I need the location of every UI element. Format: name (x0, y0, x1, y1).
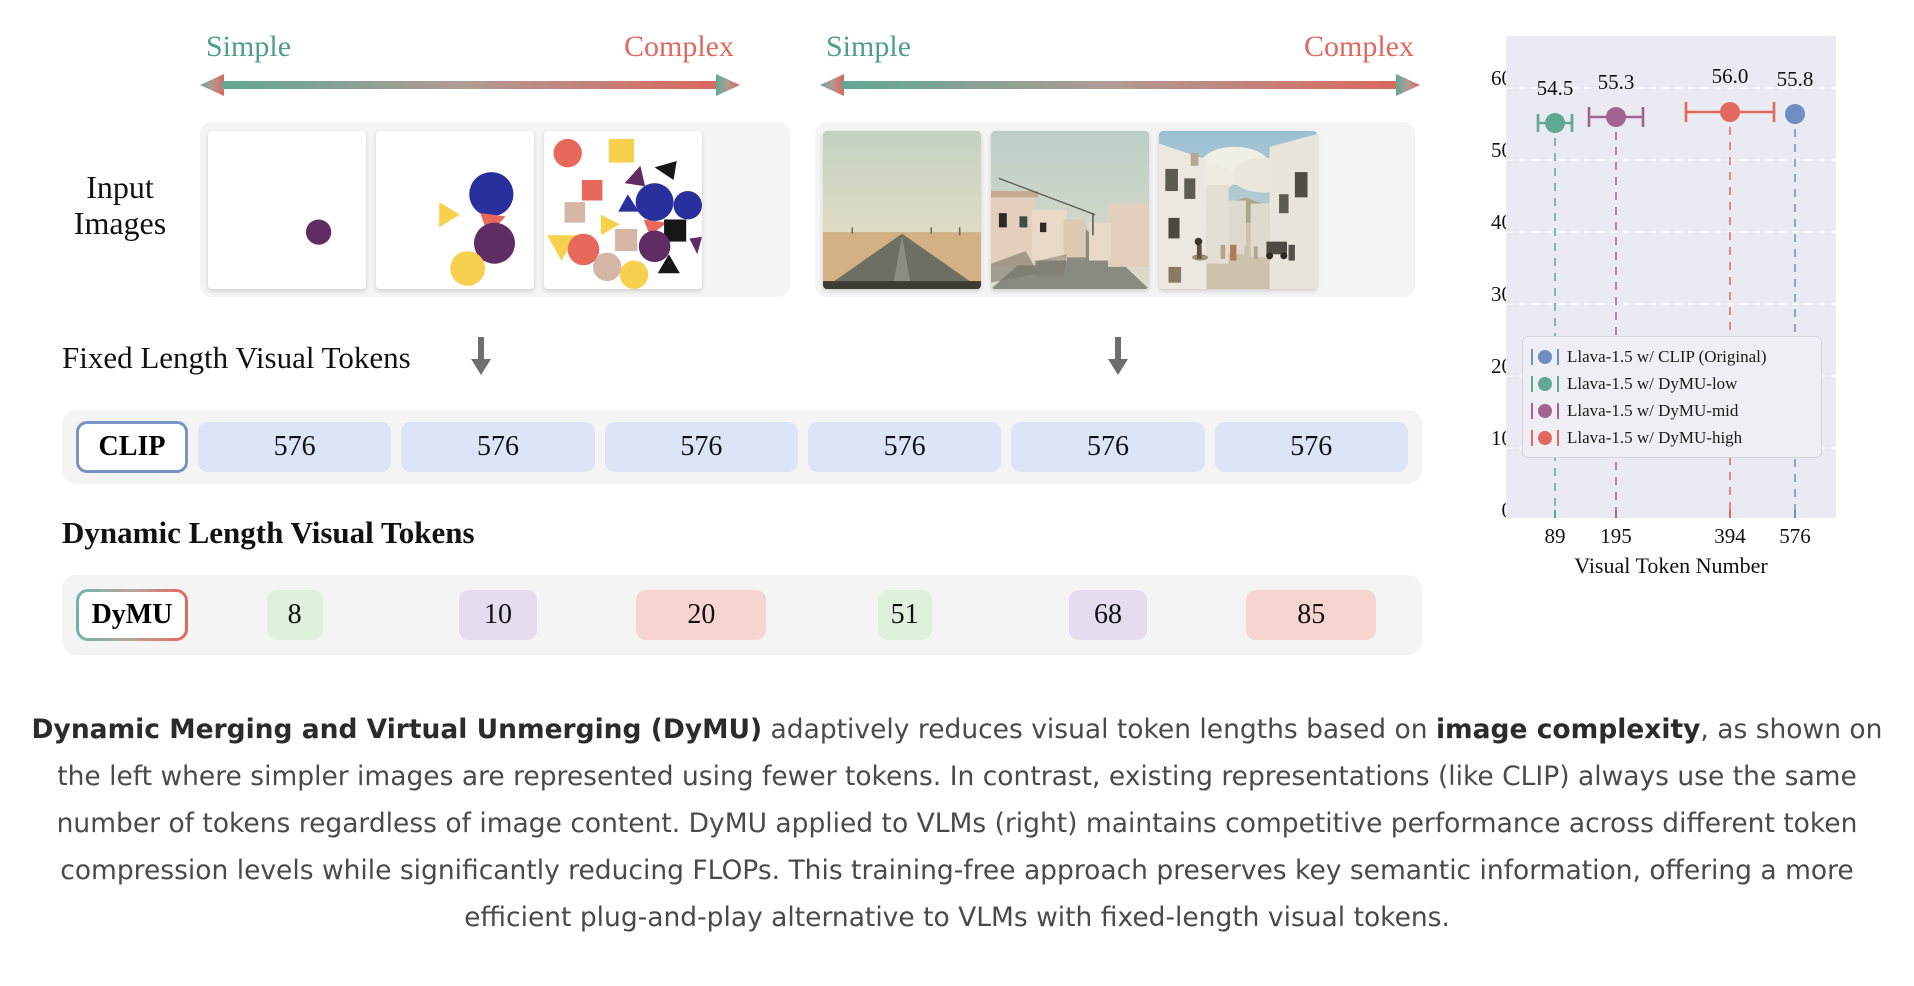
data-label-dymu-high: 56.0 (1700, 64, 1760, 89)
dymu-model-badge[interactable]: DyMU (76, 589, 188, 641)
arrow-down-icon (1105, 337, 1131, 377)
complexity-axis-2: Simple Complex (820, 30, 1420, 110)
dymu-token-2: 10 (459, 590, 537, 640)
dynamic-length-title: Dynamic Length Visual Tokens (62, 515, 475, 551)
axis-2-arrow (820, 72, 1420, 98)
point-dymu-low (1545, 113, 1565, 133)
figure-root: Simple Complex (0, 0, 1914, 986)
y-tick-30: 30 (1452, 282, 1512, 307)
point-dymu-high (1720, 102, 1740, 122)
legend-label-clip: Llava-1.5 w/ CLIP (Original) (1567, 347, 1767, 367)
legend-label-dymu-high: Llava-1.5 w/ DyMU-high (1567, 428, 1742, 448)
down-arrow-icon-2 (1105, 337, 1131, 377)
complexity-axis-1: Simple Complex (200, 30, 740, 110)
legend-marker-dymu-low-icon (1531, 375, 1559, 393)
thumb-shapes-complex[interactable] (544, 131, 702, 289)
caption-bold-complexity: image complexity (1436, 714, 1700, 745)
legend-item-clip[interactable]: Llava-1.5 w/ CLIP (Original) (1531, 343, 1813, 370)
down-arrow-icon-1 (468, 337, 494, 377)
data-label-dymu-low: 54.5 (1525, 76, 1585, 101)
point-dymu-mid (1606, 107, 1626, 127)
left-diagram-panel: Simple Complex (0, 0, 1460, 700)
shapes-simple-image (208, 131, 366, 289)
dymu-token-slot-1: 8 (198, 590, 391, 640)
double-arrow-icon (200, 72, 740, 98)
caption-rest: , as shown on the left where simpler ima… (57, 714, 1883, 933)
dymu-token-slot-2: 10 (401, 590, 594, 640)
caption-mid-1: adaptively reduces visual token lengths … (762, 714, 1436, 745)
thumb-shapes-medium[interactable] (376, 131, 534, 289)
figure-caption: Dynamic Merging and Virtual Unmerging (D… (28, 706, 1886, 941)
clip-token-slot-3: 576 (605, 422, 798, 472)
dymu-token-3: 20 (636, 590, 766, 640)
data-label-dymu-mid: 55.3 (1586, 70, 1646, 95)
legend-label-dymu-mid: Llava-1.5 w/ DyMU-mid (1567, 401, 1738, 421)
clip-token-4: 576 (808, 422, 1001, 472)
dymu-token-1: 8 (267, 590, 323, 640)
shapes-complex-image (544, 131, 702, 289)
x-tick-576: 576 (1760, 524, 1830, 549)
clip-token-slot-1: 576 (198, 422, 391, 472)
x-tick-89: 89 (1520, 524, 1590, 549)
dymu-token-5: 68 (1069, 590, 1147, 640)
legend-marker-dymu-mid-icon (1531, 402, 1559, 420)
thumb-photo-village-street[interactable] (991, 131, 1149, 289)
dymu-token-slot-4: 51 (808, 590, 1001, 640)
shapes-medium-image (376, 131, 534, 289)
y-tick-60: 60 (1452, 66, 1512, 91)
clip-token-3: 576 (605, 422, 798, 472)
desert-road-photo (823, 131, 981, 289)
clip-token-row: CLIP 576 576 576 576 576 576 (62, 410, 1422, 484)
legend-item-dymu-low[interactable]: Llava-1.5 w/ DyMU-low (1531, 370, 1813, 397)
input-images-label-line1: Input (50, 170, 190, 206)
clip-token-slot-4: 576 (808, 422, 1001, 472)
thumb-shapes-simple[interactable] (208, 131, 366, 289)
clip-token-slot-6: 576 (1215, 422, 1408, 472)
caption-bold-dymu: Dynamic Merging and Virtual Unmerging (D… (32, 714, 763, 745)
y-tick-40: 40 (1452, 210, 1512, 235)
x-tick-394: 394 (1695, 524, 1765, 549)
clip-token-1: 576 (198, 422, 391, 472)
clip-token-2: 576 (401, 422, 594, 472)
axis-2-simple-label: Simple (826, 30, 911, 64)
chart-x-axis-label: Visual Token Number (1506, 553, 1836, 579)
point-clip (1785, 104, 1805, 124)
y-tick-10: 10 (1452, 426, 1512, 451)
legend-marker-dymu-high-icon (1531, 429, 1559, 447)
accuracy-vs-tokens-chart: Avg Acc on 9 Benchmarks (%) 60 50 40 30 … (1448, 18, 1908, 578)
legend-item-dymu-high[interactable]: Llava-1.5 w/ DyMU-high (1531, 424, 1813, 451)
axis-1-arrow (200, 72, 740, 98)
axis-2-complex-label: Complex (1304, 30, 1414, 64)
legend-label-dymu-low: Llava-1.5 w/ DyMU-low (1567, 374, 1737, 394)
axis-1-simple-label: Simple (206, 30, 291, 64)
fixed-length-title: Fixed Length Visual Tokens (62, 340, 411, 376)
dymu-token-4: 51 (878, 590, 932, 640)
legend-item-dymu-mid[interactable]: Llava-1.5 w/ DyMU-mid (1531, 397, 1813, 424)
chart-legend: Llava-1.5 w/ CLIP (Original) Llava-1.5 w… (1522, 336, 1822, 458)
dymu-token-slot-5: 68 (1011, 590, 1204, 640)
old-town-photo (1159, 131, 1317, 289)
y-tick-0: 0 (1452, 498, 1512, 523)
thumb-photo-old-town[interactable] (1159, 131, 1317, 289)
x-tick-195: 195 (1581, 524, 1651, 549)
dymu-token-slot-6: 85 (1215, 590, 1408, 640)
thumb-photo-desert-road[interactable] (823, 131, 981, 289)
dymu-token-6: 85 (1246, 590, 1376, 640)
input-images-label-line2: Images (50, 206, 190, 242)
axis-1-complex-label: Complex (624, 30, 734, 64)
clip-token-6: 576 (1215, 422, 1408, 472)
arrow-down-icon (468, 337, 494, 377)
clip-token-slot-5: 576 (1011, 422, 1204, 472)
y-tick-20: 20 (1452, 354, 1512, 379)
data-label-clip: 55.8 (1765, 67, 1825, 92)
synthetic-image-strip (200, 122, 790, 297)
dymu-token-slot-3: 20 (605, 590, 798, 640)
clip-token-5: 576 (1011, 422, 1204, 472)
dymu-token-row: DyMU 8 10 20 51 68 85 (62, 575, 1422, 655)
clip-model-badge[interactable]: CLIP (76, 421, 188, 473)
y-tick-50: 50 (1452, 138, 1512, 163)
double-arrow-icon (820, 72, 1420, 98)
input-images-label: Input Images (50, 170, 190, 242)
clip-token-slot-2: 576 (401, 422, 594, 472)
photo-image-strip (815, 122, 1415, 297)
legend-marker-clip-icon (1531, 348, 1559, 366)
village-street-photo (991, 131, 1149, 289)
